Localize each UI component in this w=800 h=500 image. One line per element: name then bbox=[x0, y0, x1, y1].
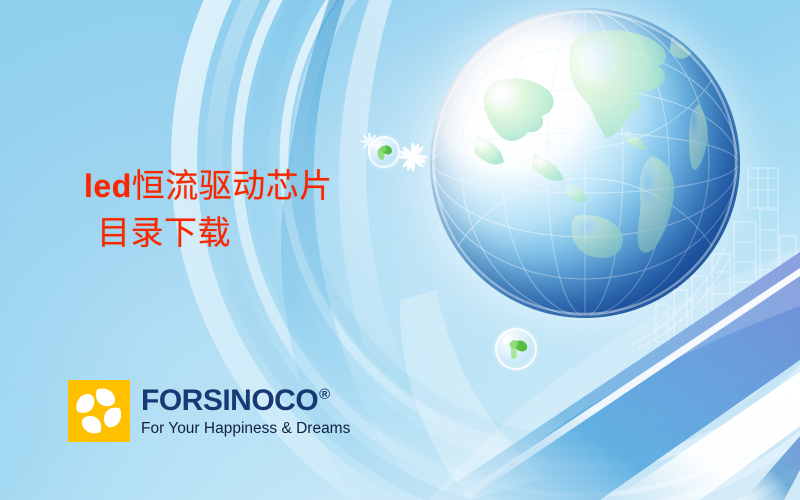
headline-line-2: 目录下载 bbox=[84, 210, 504, 257]
page-title: led恒流驱动芯片 目录下载 bbox=[84, 163, 504, 257]
headline-latin-text: led bbox=[84, 168, 132, 204]
logo-mark-icon bbox=[68, 380, 130, 442]
registered-trademark-icon: ® bbox=[319, 387, 330, 402]
logo-tagline: For Your Happiness & Dreams bbox=[141, 421, 350, 437]
promotional-banner: led恒流驱动芯片 目录下载 FORSINOCO® For Your Happi… bbox=[0, 0, 800, 500]
logo-wordmark-text: FORSINOCO bbox=[141, 386, 318, 416]
logo-text-block: FORSINOCO® For Your Happiness & Dreams bbox=[141, 386, 350, 437]
city-skyline bbox=[630, 150, 800, 350]
leaf-bubble-icon bbox=[495, 328, 537, 370]
logo-wordmark: FORSINOCO® bbox=[141, 386, 350, 416]
headline-line-1: led恒流驱动芯片 bbox=[84, 163, 504, 210]
company-logo: FORSINOCO® For Your Happiness & Dreams bbox=[68, 380, 350, 442]
headline-cjk-text: 恒流驱动芯片 bbox=[132, 166, 333, 205]
